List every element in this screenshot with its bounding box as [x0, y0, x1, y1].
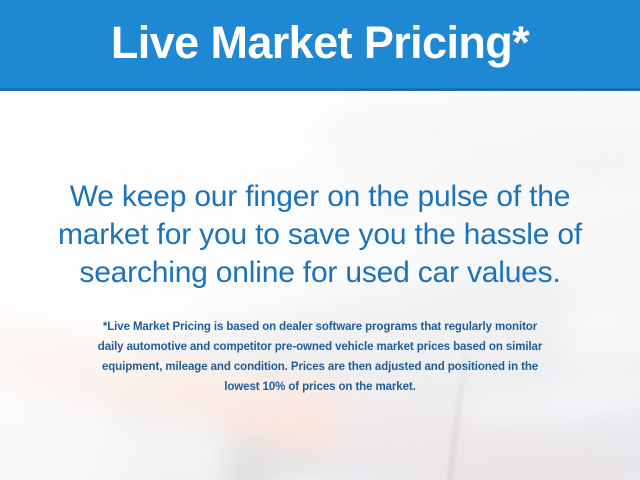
headline-line-2: market for you to save you the hassle of	[0, 216, 640, 254]
page-title: Live Market Pricing*	[111, 20, 529, 68]
disclaimer-line-4: lowest 10% of prices on the market.	[18, 377, 622, 397]
live-market-pricing-banner: Live Market Pricing* We keep our finger …	[0, 0, 640, 480]
headline-line-1: We keep our finger on the pulse of the	[0, 178, 640, 216]
disclaimer-line-2: daily automotive and competitor pre-owne…	[18, 337, 622, 357]
disclaimer-text: *Live Market Pricing is based on dealer …	[18, 317, 622, 397]
headline-line-3: searching online for used car values.	[0, 254, 640, 292]
disclaimer-line-3: equipment, mileage and condition. Prices…	[18, 357, 622, 377]
headline-text: We keep our finger on the pulse of the m…	[0, 178, 640, 292]
disclaimer-line-1: *Live Market Pricing is based on dealer …	[18, 317, 622, 337]
header-banner: Live Market Pricing*	[0, 0, 640, 88]
